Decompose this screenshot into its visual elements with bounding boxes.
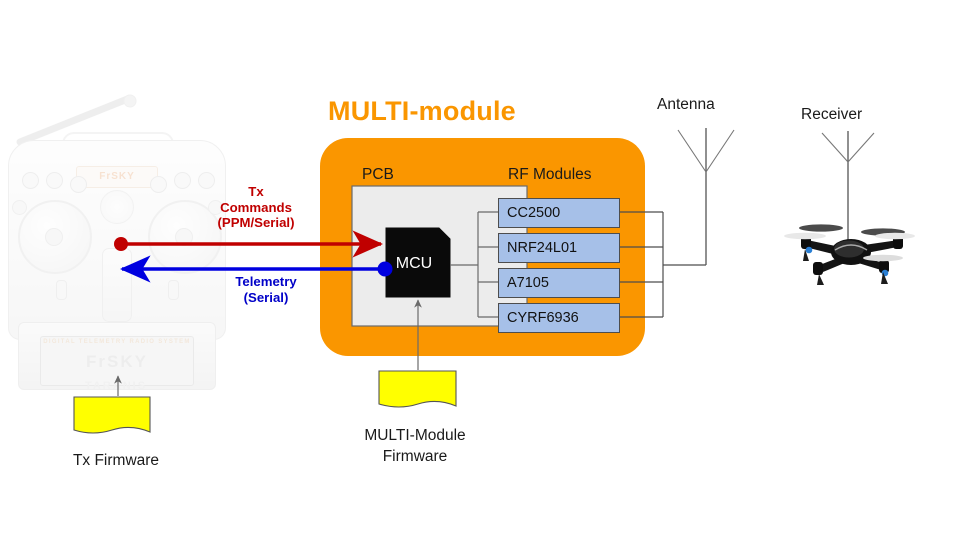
- rf-modules-label: RF Modules: [508, 166, 592, 184]
- multi-module-firmware-label: MULTI-Module Firmware: [337, 426, 493, 468]
- rf-module-a7105[interactable]: A7105: [498, 268, 620, 298]
- rf-module-label: NRF24L01: [507, 240, 577, 256]
- telemetry-label: Telemetry (Serial): [212, 274, 320, 305]
- tx-commands-label: Tx Commands (PPM/Serial): [200, 184, 312, 231]
- multi-module-firmware-document: [379, 371, 456, 407]
- antenna-icon: [678, 128, 734, 265]
- rf-module-cyrf6936[interactable]: CYRF6936: [498, 303, 620, 333]
- rf-module-label: A7105: [507, 275, 549, 291]
- rf-module-nrf24l01[interactable]: NRF24L01: [498, 233, 620, 263]
- mcu-label: MCU: [383, 255, 445, 273]
- receiver-drone-image: [783, 200, 918, 292]
- tx-firmware-document: [74, 397, 150, 433]
- rf-module-cc2500[interactable]: CC2500: [498, 198, 620, 228]
- diagram-canvas: FrSKY DIGITAL TELEMETRY RADIO SYSTEM FrS…: [0, 0, 960, 540]
- receiver-label: Receiver: [801, 106, 862, 124]
- pcb-label: PCB: [362, 166, 394, 184]
- antenna-label: Antenna: [657, 96, 715, 114]
- rf-module-label: CC2500: [507, 205, 560, 221]
- rf-module-label: CYRF6936: [507, 310, 579, 326]
- tx-firmware-label: Tx Firmware: [40, 452, 192, 470]
- page-title: MULTI-module: [328, 96, 516, 128]
- drone-icon: [783, 200, 918, 292]
